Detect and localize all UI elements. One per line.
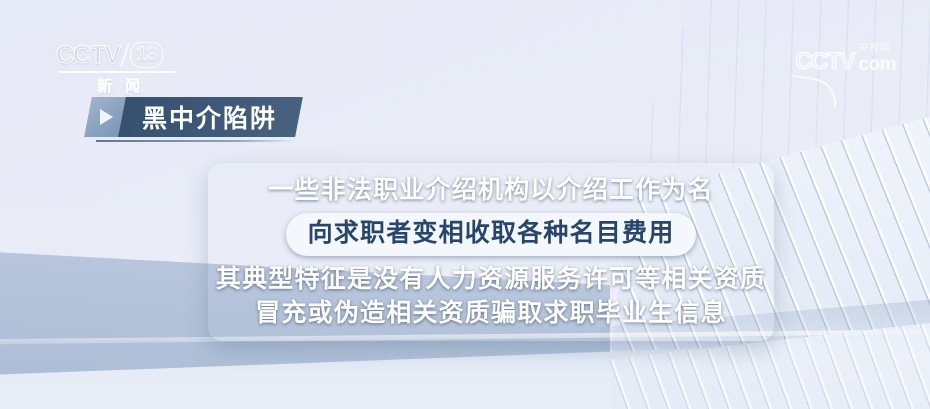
panel-line-4: 冒充或伪造相关资质骗取求职毕业生信息 (255, 297, 727, 330)
cctv-slash-icon (120, 43, 130, 67)
watermark-right-group: 央视网 com (858, 44, 896, 74)
watermark-chinese-name: 央视网 (858, 44, 891, 54)
panel-highlight-pill: 向求职者变相收取各种名目费用 (286, 213, 697, 256)
cctv-wordmark: CCTV (56, 43, 120, 68)
cctv-logo-row: CCTV 13 (56, 42, 184, 68)
cctv-logo-subtitle: 新闻 (56, 75, 184, 96)
banner-title: 黑中介陷阱 (142, 99, 277, 135)
panel-line-2: 向求职者变相收取各种名目费用 (308, 217, 675, 250)
watermark-row: CCTV 央视网 com (795, 44, 896, 74)
panel-line-1: 一些非法职业介绍机构以介绍工作为名 (268, 174, 713, 207)
banner-title-plate: 黑中介陷阱 (118, 97, 303, 137)
cctv13-channel-logo: CCTV 13 新闻 (56, 42, 184, 96)
watermark-domain: com (858, 55, 896, 74)
panel-content: 一些非法职业介绍机构以介绍工作为名 向求职者变相收取各种名目费用 其典型特征是没… (208, 163, 774, 341)
lower-third-panel: 一些非法职业介绍机构以介绍工作为名 向求职者变相收取各种名目费用 其典型特征是没… (208, 163, 774, 341)
cctv-channel-number: 13 (130, 42, 163, 68)
cctv-logo-underline (58, 71, 176, 73)
panel-line-3: 其典型特征是没有人力资源服务许可等相关资质 (216, 263, 766, 296)
banner-underline (96, 140, 296, 142)
broadcast-graphic: CCTV 13 新闻 CCTV 央视网 com 黑中介陷阱 一些非法职业介绍机构… (0, 0, 930, 409)
play-triangle-icon (100, 109, 113, 125)
cctv-com-watermark: CCTV 央视网 com (795, 44, 896, 74)
watermark-brand: CCTV (795, 50, 854, 74)
headline-banner: 黑中介陷阱 (88, 97, 299, 137)
